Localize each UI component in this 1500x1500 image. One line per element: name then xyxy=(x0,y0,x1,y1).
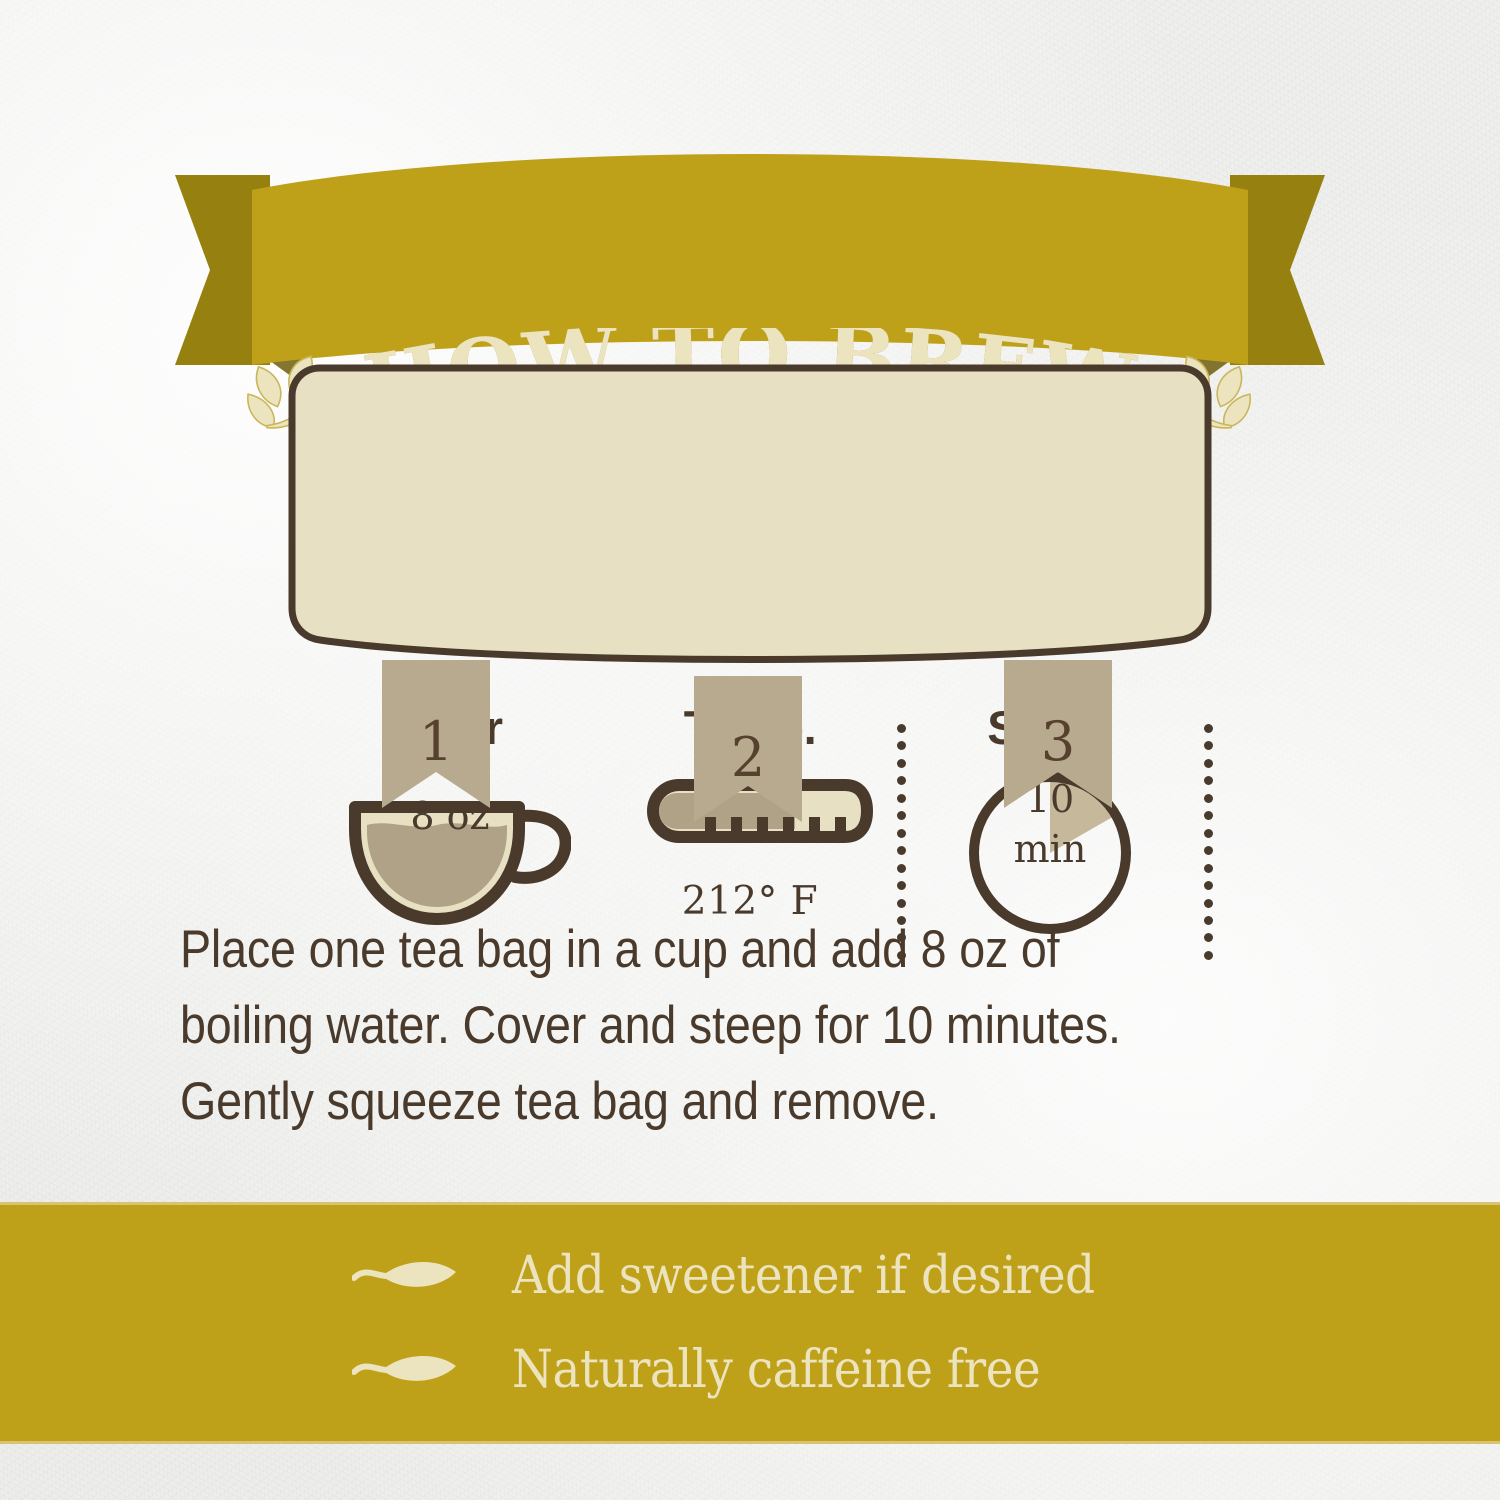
footer-item-sweetener: Add sweetener if desired xyxy=(0,1246,1500,1306)
page-background: HOW TO BREW HOW TO BREW Pour xyxy=(0,0,1500,1500)
footer-label-sweetener: Add sweetener if desired xyxy=(512,1246,1095,1306)
step-tab-number-2: 2 xyxy=(698,726,798,789)
footer-label-caffeine: Naturally caffeine free xyxy=(512,1340,1040,1400)
step-number-tabs: 1 2 3 xyxy=(0,660,1500,830)
brew-spec-card: Pour 8 oz Temp. xyxy=(0,330,1500,700)
leaf-bullet-icon xyxy=(352,1252,460,1301)
footer-item-caffeine: Naturally caffeine free xyxy=(0,1340,1500,1400)
steep-minutes-unit: min xyxy=(900,824,1200,874)
step-tab-number-3: 3 xyxy=(1008,710,1108,773)
card-shape xyxy=(292,368,1208,660)
footer-highlights-bar: Add sweetener if desired Naturally caffe… xyxy=(0,1202,1500,1444)
brewing-instructions-text: Place one tea bag in a cup and add 8 oz … xyxy=(180,912,1183,1140)
leaf-bullet-icon xyxy=(352,1346,460,1395)
step-tab-number-1: 1 xyxy=(386,710,486,773)
